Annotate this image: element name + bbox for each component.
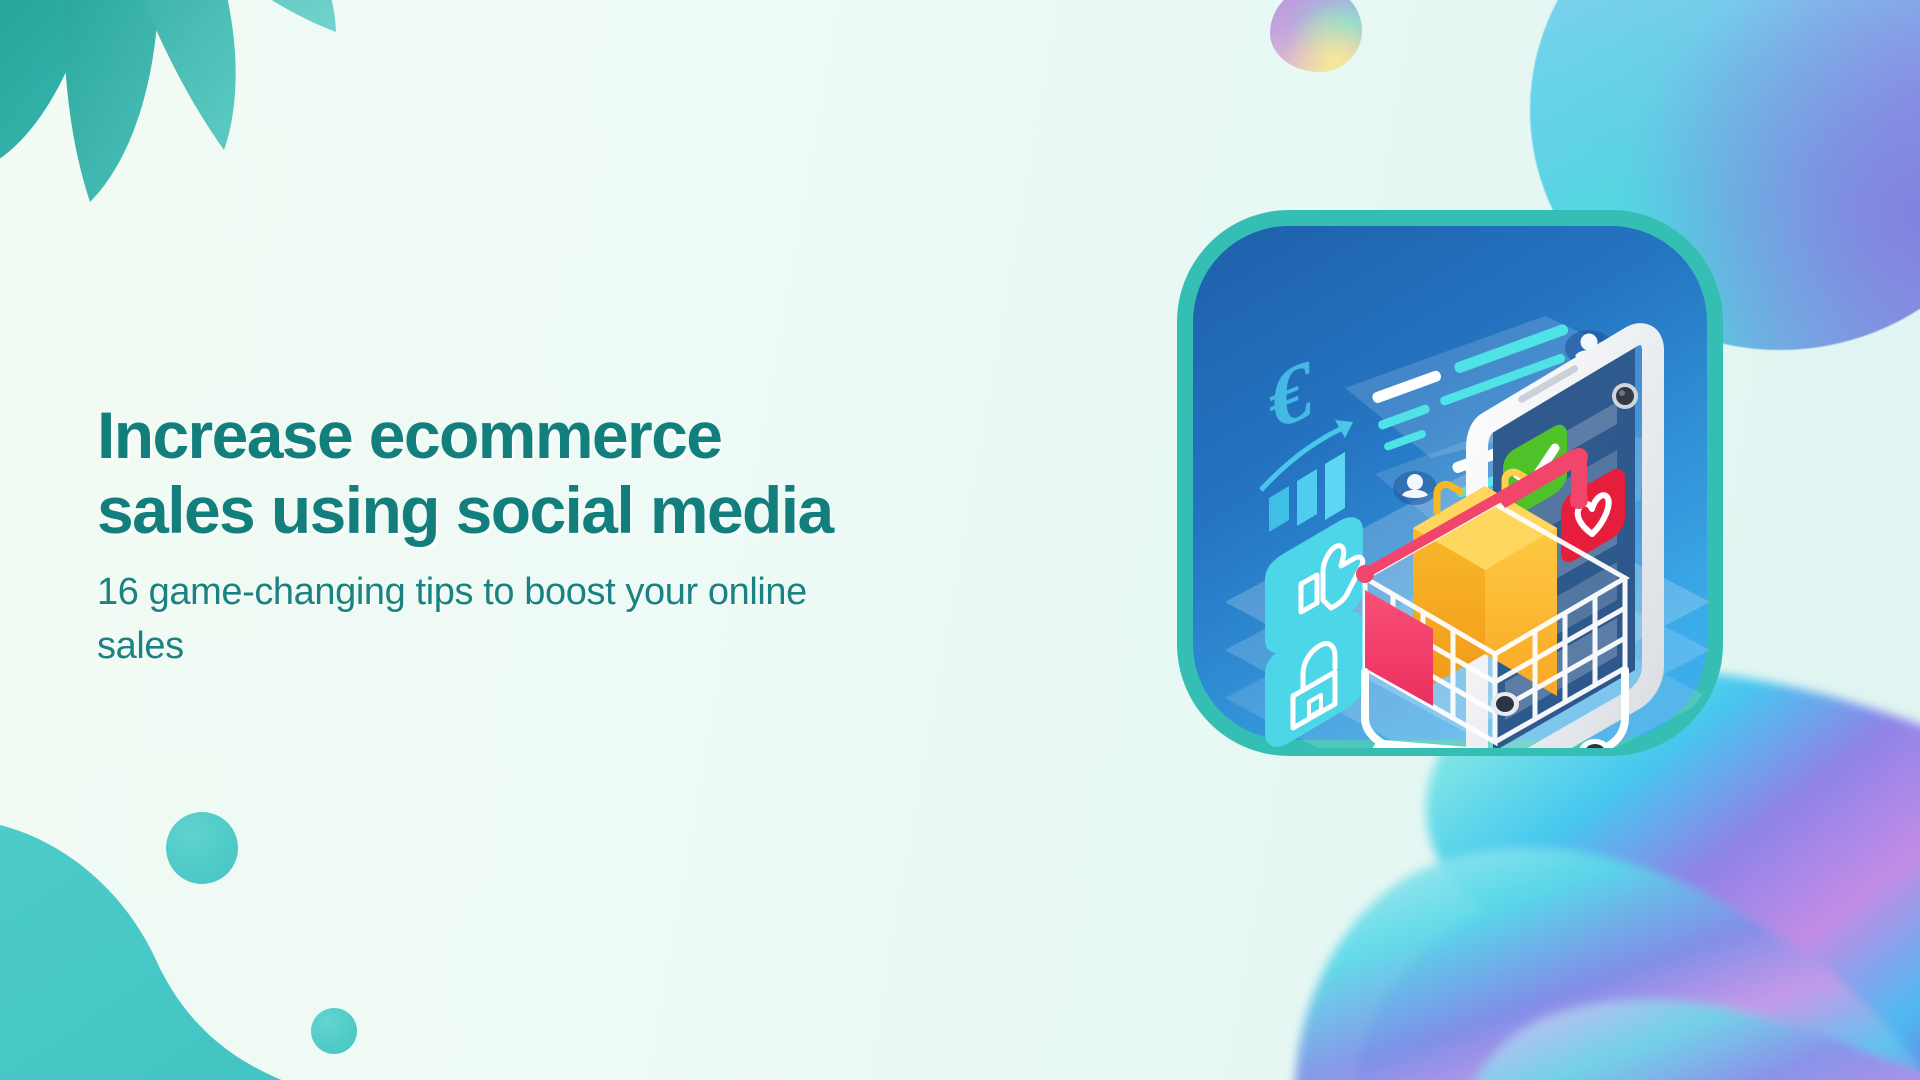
- iridescent-egg-top-right: [1270, 0, 1362, 72]
- promo-banner: Increase ecommerce sales using social me…: [0, 0, 1920, 1080]
- headline-line-1: Increase ecommerce: [97, 398, 917, 473]
- svg-text:€: €: [1269, 340, 1311, 450]
- avatar-icon-bottom: [1393, 471, 1437, 505]
- page-title: Increase ecommerce sales using social me…: [97, 398, 917, 548]
- euro-symbol-icon: €: [1269, 340, 1311, 450]
- circle-accent-large: [166, 812, 238, 884]
- headline-line-2: sales using social media: [97, 473, 917, 548]
- blob-bottom-left: [0, 710, 440, 1080]
- ecommerce-illustration: €: [1165, 198, 1815, 878]
- page-subtitle: 16 game-changing tips to boost your onli…: [97, 566, 817, 674]
- illustration-canvas: €: [1165, 198, 1815, 878]
- circle-accent-small: [311, 1008, 357, 1054]
- copy-block: Increase ecommerce sales using social me…: [97, 398, 917, 674]
- illustration-card: €: [1185, 218, 1715, 829]
- leaf-fan-top-left: [0, 0, 380, 250]
